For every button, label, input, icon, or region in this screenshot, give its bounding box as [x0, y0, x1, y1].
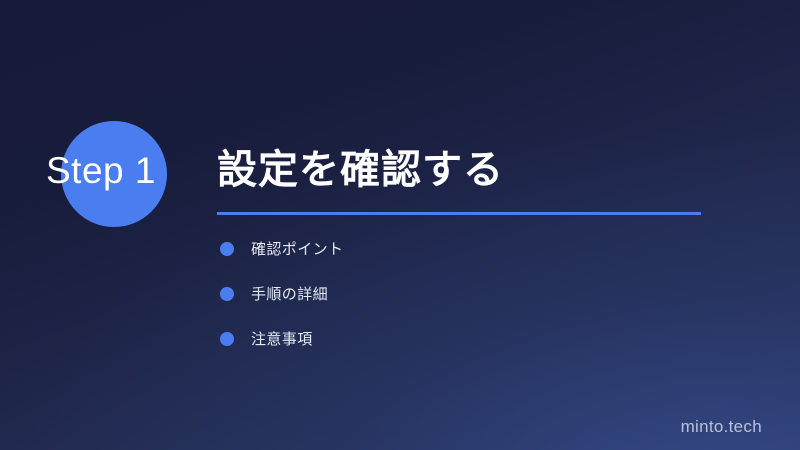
list-item-label: 注意事項 — [251, 328, 313, 349]
bullet-list: 確認ポイント 手順の詳細 注意事項 — [220, 238, 343, 373]
list-item: 確認ポイント — [220, 238, 343, 259]
watermark: minto.tech — [681, 417, 762, 437]
slide-title: 設定を確認する — [217, 148, 504, 192]
list-item: 手順の詳細 — [220, 283, 343, 304]
slide-canvas: Step 1 設定を確認する 確認ポイント 手順の詳細 注意事項 minto.t… — [0, 0, 800, 450]
bullet-dot-icon — [220, 242, 234, 256]
bullet-dot-icon — [220, 332, 234, 346]
list-item: 注意事項 — [220, 328, 343, 349]
list-item-label: 手順の詳細 — [251, 283, 328, 304]
bullet-dot-icon — [220, 287, 234, 301]
title-divider — [217, 212, 701, 215]
list-item-label: 確認ポイント — [251, 238, 343, 259]
step-badge-label: Step 1 — [46, 152, 156, 189]
